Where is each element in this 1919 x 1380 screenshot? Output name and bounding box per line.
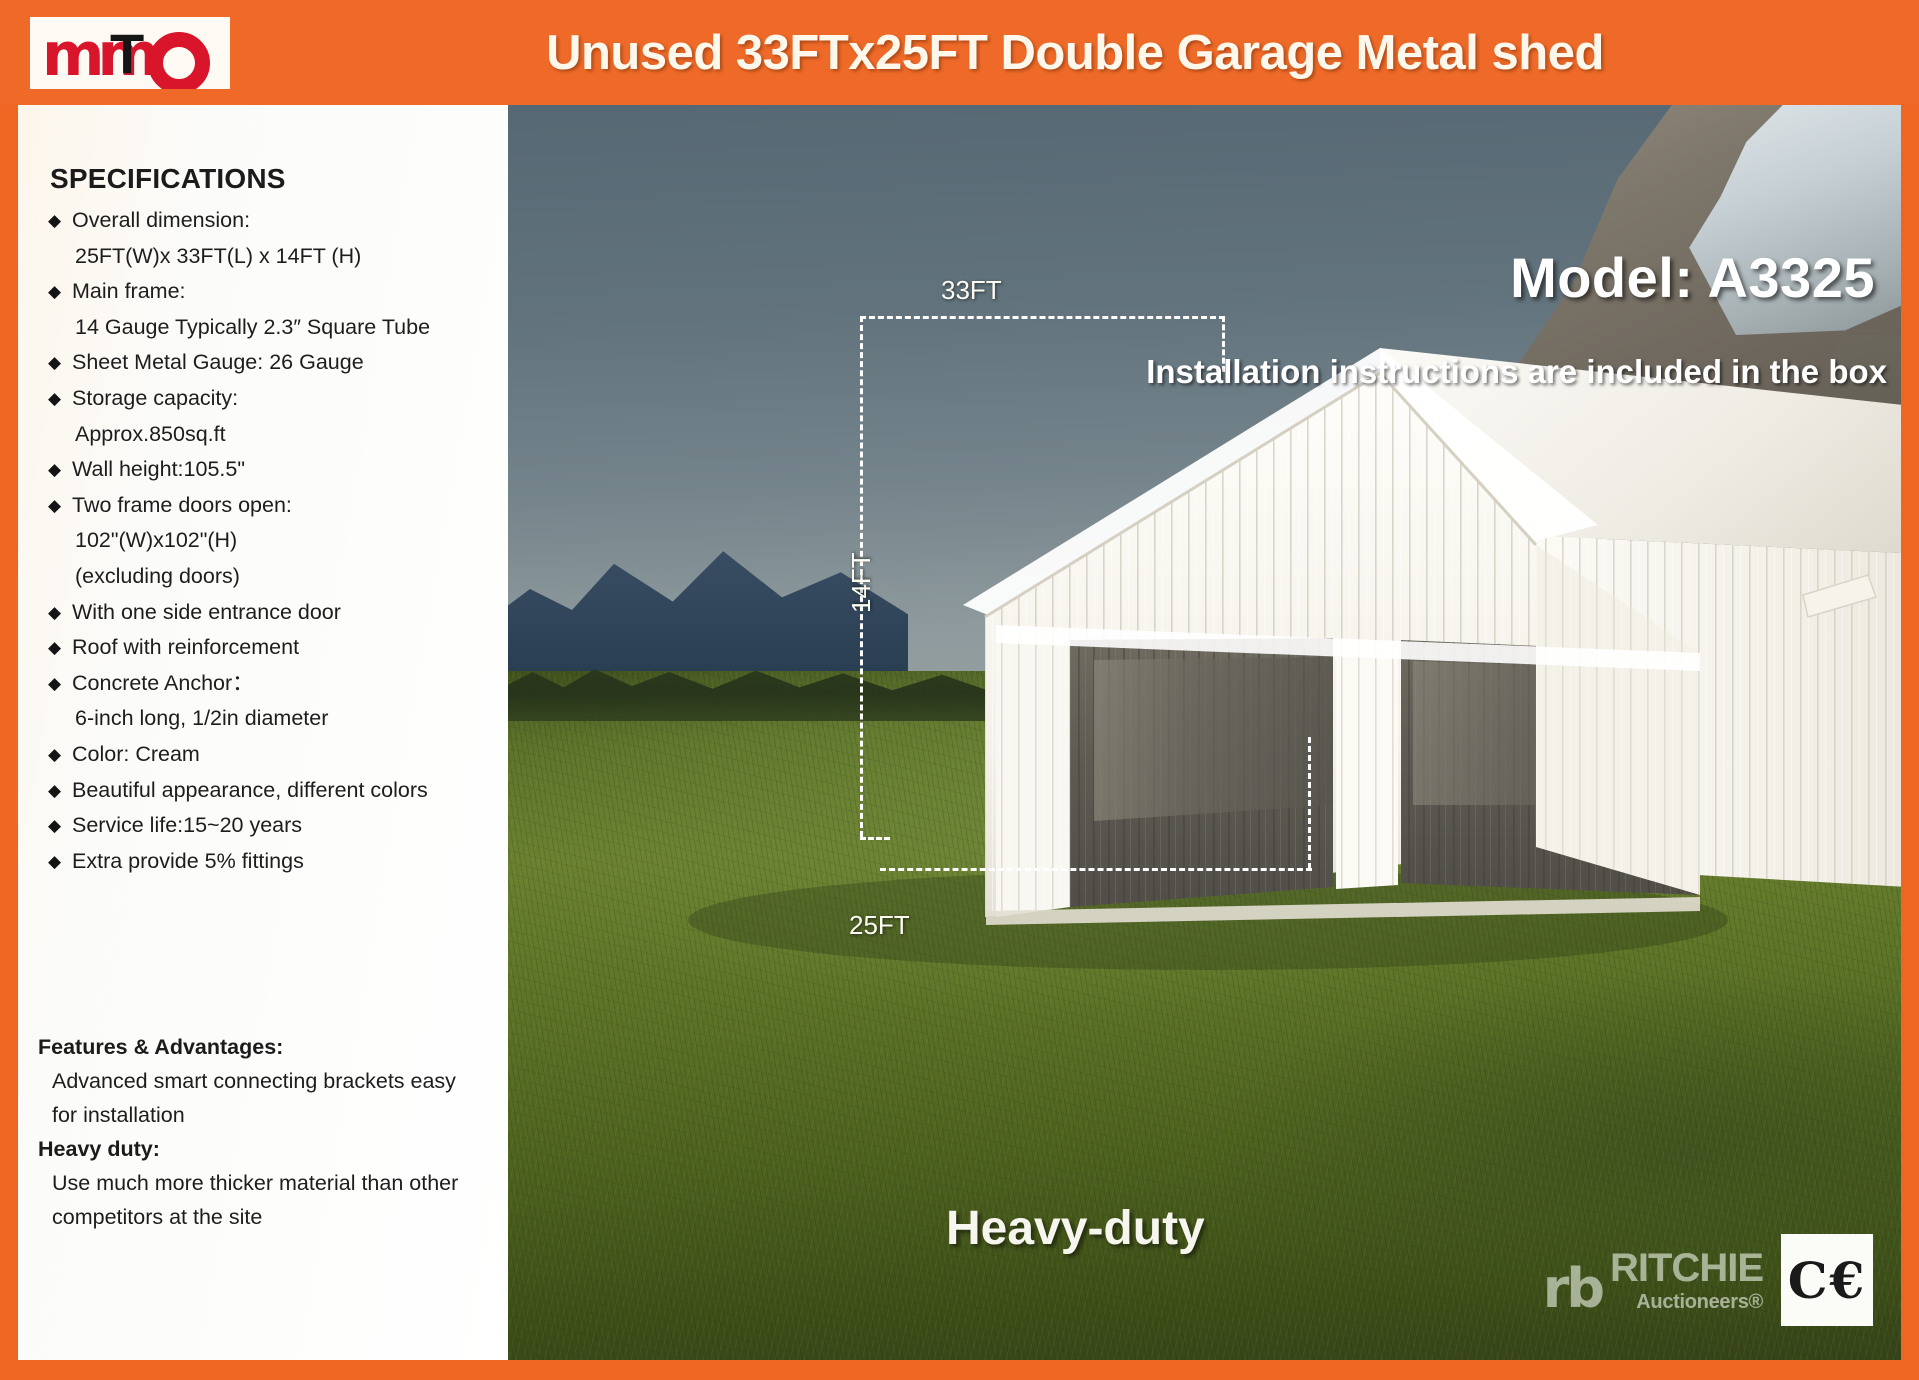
spec-label: Color: Cream [72, 737, 200, 773]
spec-sub: 102"(W)x102"(H) [48, 523, 508, 559]
features-heading: Features & Advantages: [38, 1030, 508, 1064]
spec-sub: Approx.850sq.ft [48, 417, 508, 453]
diamond-bullet-icon: ◆ [48, 737, 72, 773]
diamond-bullet-icon: ◆ [48, 666, 72, 702]
features-advantages-section: Features & Advantages: Advanced smart co… [38, 1030, 508, 1234]
spec-label: With one side entrance door [72, 595, 341, 631]
dimension-line-25ft [880, 868, 1312, 871]
spec-label: Main frame: [72, 274, 186, 310]
page-header: mm T Unused 33FTx25FT Double Garage Meta… [0, 0, 1919, 105]
product-photo: 33FT 14FT 25FT Model: A3325 Installation… [508, 105, 1901, 1360]
dimension-line-33ft [860, 316, 1225, 319]
spec-row: ◆ Main frame: [48, 274, 508, 310]
ce-mark-text: C€ [1788, 1251, 1867, 1310]
diamond-bullet-icon: ◆ [48, 274, 72, 310]
spec-sub: (excluding doors) [48, 559, 508, 595]
diamond-bullet-icon: ◆ [48, 844, 72, 880]
specifications-list: ◆ Overall dimension: 25FT(W)x 33FT(L) x … [48, 203, 508, 879]
diamond-bullet-icon: ◆ [48, 345, 72, 381]
mto-logo-icon: mm T [42, 24, 218, 82]
diamond-bullet-icon: ◆ [48, 452, 72, 488]
spec-row: ◆ Beautiful appearance, different colors [48, 773, 508, 809]
ce-mark-badge: C€ [1781, 1234, 1873, 1326]
model-number-label: Model: A3325 [1510, 245, 1875, 310]
logo-letter-t: T [110, 26, 144, 82]
rb-logo-icon: rb RITCHIE Auctioneers® [1543, 1248, 1763, 1312]
spec-row: ◆ Extra provide 5% fittings [48, 844, 508, 880]
auctioneers-subtitle: Auctioneers® [1610, 1292, 1763, 1312]
spec-sub: 6-inch long, 1/2in diameter [48, 701, 508, 737]
specifications-heading: SPECIFICATIONS [50, 163, 286, 195]
spec-row: ◆ Two frame doors open: [48, 488, 508, 524]
spec-label: Overall dimension: [72, 203, 250, 239]
heavy-duty-body-line: competitors at the site [38, 1200, 508, 1234]
spec-row: ◆ Sheet Metal Gauge: 26 Gauge [48, 345, 508, 381]
diamond-bullet-icon: ◆ [48, 808, 72, 844]
diamond-bullet-icon: ◆ [48, 203, 72, 239]
heavy-duty-badge: Heavy-duty [946, 1201, 1205, 1256]
spec-row: ◆ Overall dimension: [48, 203, 508, 239]
logo-letter-o [148, 32, 210, 89]
spec-row: ◆ Color: Cream [48, 737, 508, 773]
installation-note: Installation instructions are included i… [1146, 353, 1887, 391]
brand-logo: mm T [30, 17, 230, 89]
spec-label: Sheet Metal Gauge: 26 Gauge [72, 345, 364, 381]
diamond-bullet-icon: ◆ [48, 595, 72, 631]
spec-label: Extra provide 5% fittings [72, 844, 304, 880]
spec-row: ◆ Concrete Anchor： [48, 666, 508, 702]
heavy-duty-body-line: Use much more thicker material than othe… [38, 1166, 508, 1200]
spec-row: ◆ Storage capacity: [48, 381, 508, 417]
dimension-line-base-left [860, 837, 890, 840]
dimension-label-25ft: 25FT [849, 910, 910, 941]
specifications-panel: SPECIFICATIONS ◆ Overall dimension: 25FT… [18, 105, 508, 1360]
page-title: Unused 33FTx25FT Double Garage Metal she… [250, 0, 1900, 105]
spec-label: Beautiful appearance, different colors [72, 773, 428, 809]
spec-row: ◆ With one side entrance door [48, 595, 508, 631]
rb-monogram: rb [1543, 1266, 1602, 1312]
dimension-label-14ft: 14FT [846, 552, 877, 613]
features-body-line: for installation [38, 1098, 508, 1132]
ritchie-name: RITCHIE [1610, 1248, 1763, 1288]
features-body-line: Advanced smart connecting brackets easy [38, 1064, 508, 1098]
diamond-bullet-icon: ◆ [48, 488, 72, 524]
auctioneer-watermark: rb RITCHIE Auctioneers® C€ [1543, 1234, 1873, 1326]
spec-label: Roof with reinforcement [72, 630, 299, 666]
dimension-line-base-right [1308, 737, 1311, 869]
spec-label: Storage capacity: [72, 381, 238, 417]
product-advertisement-page: mm T Unused 33FTx25FT Double Garage Meta… [0, 0, 1919, 1380]
rb-wordmark: RITCHIE Auctioneers® [1610, 1248, 1763, 1312]
spec-sub: 14 Gauge Typically 2.3″ Square Tube [48, 310, 508, 346]
spec-row: ◆ Roof with reinforcement [48, 630, 508, 666]
dimension-label-33ft: 33FT [941, 275, 1002, 306]
spec-sub: 25FT(W)x 33FT(L) x 14FT (H) [48, 239, 508, 275]
diamond-bullet-icon: ◆ [48, 381, 72, 417]
diamond-bullet-icon: ◆ [48, 630, 72, 666]
spec-label: Two frame doors open: [72, 488, 292, 524]
spec-row: ◆ Service life:15~20 years [48, 808, 508, 844]
diamond-bullet-icon: ◆ [48, 773, 72, 809]
spec-row: ◆ Wall height:105.5" [48, 452, 508, 488]
spec-label: Wall height:105.5" [72, 452, 245, 488]
spec-label: Service life:15~20 years [72, 808, 302, 844]
heavy-duty-heading: Heavy duty: [38, 1132, 508, 1166]
spec-label: Concrete Anchor： [72, 666, 254, 702]
